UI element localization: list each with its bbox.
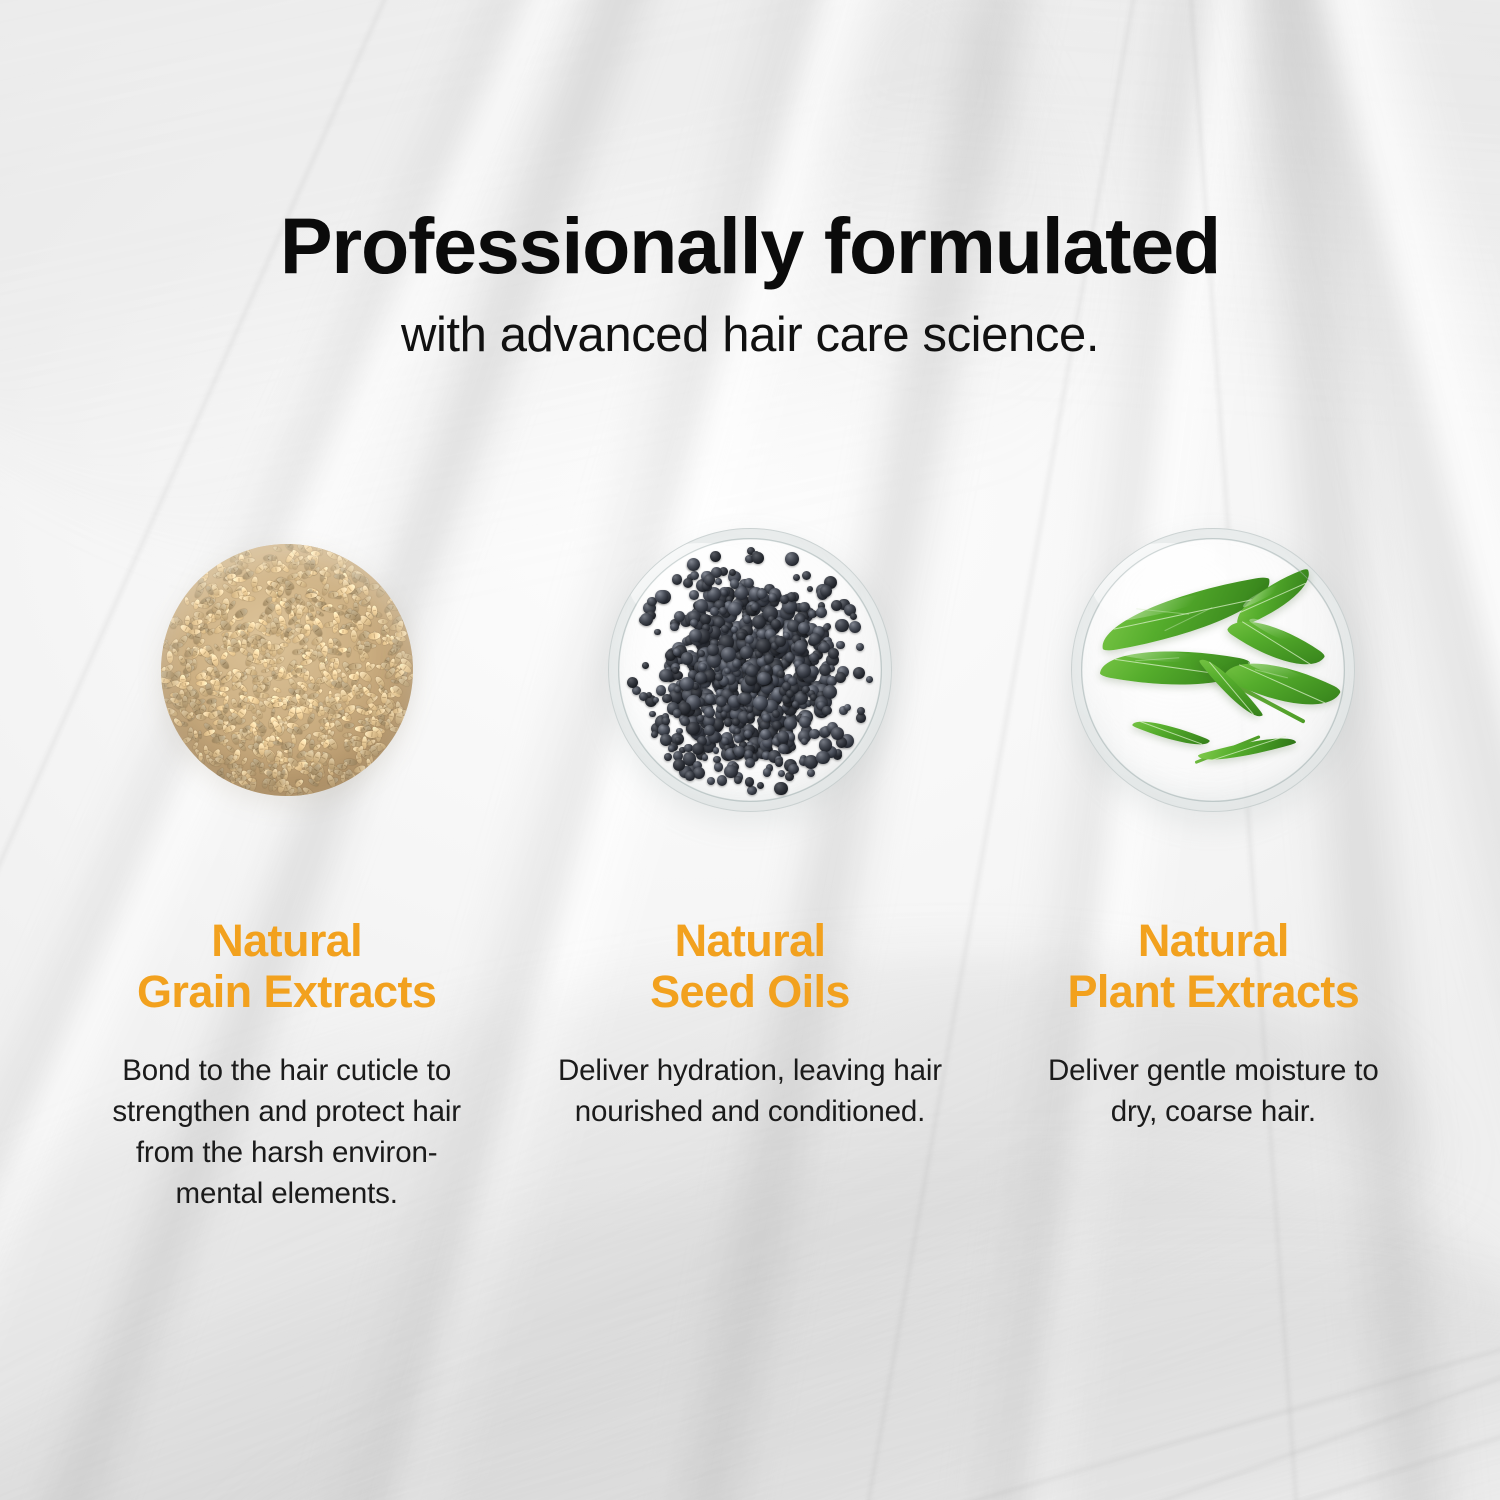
black-seed: [757, 782, 764, 789]
grain-seed: [276, 697, 288, 703]
black-seed: [746, 665, 758, 677]
grain-seed: [328, 638, 333, 648]
grain-seed: [307, 618, 320, 631]
grain-seed: [306, 554, 317, 563]
grain-seed: [342, 733, 351, 738]
grain-seed: [332, 624, 339, 634]
grain-seed: [262, 554, 274, 561]
grain-seed: [190, 630, 198, 637]
grain-seed: [270, 580, 282, 590]
grain-seed: [318, 752, 329, 765]
black-seed: [714, 762, 724, 772]
grain-seed: [355, 692, 363, 699]
black-seed: [674, 611, 685, 622]
grain-seed: [284, 749, 292, 753]
grain-seed: [341, 716, 351, 722]
grain-seed: [396, 716, 406, 721]
grain-seed: [217, 565, 229, 574]
black-seed: [721, 625, 729, 633]
grain-seed: [366, 739, 376, 747]
grain-seed: [265, 587, 279, 599]
grain-seed: [294, 622, 307, 632]
grain-seed: [287, 706, 297, 719]
grain-seed: [181, 684, 194, 696]
grain-seed: [236, 701, 245, 708]
grain-seed: [256, 736, 262, 747]
grain-seed: [227, 573, 236, 579]
black-seed: [807, 769, 816, 778]
grain-seed: [329, 590, 343, 600]
grain-seed: [247, 695, 261, 705]
grain-seed: [309, 650, 318, 662]
grain-seed: [387, 722, 396, 732]
grain-seed: [297, 597, 307, 606]
grain-seed: [233, 577, 246, 582]
grain-seed: [361, 615, 370, 624]
grain-seed: [307, 682, 320, 692]
grain-seed: [197, 754, 206, 765]
grain-seed: [330, 668, 341, 675]
grain-seed: [188, 615, 199, 625]
black-seed: [792, 701, 799, 708]
grain-seed: [382, 638, 392, 646]
black-seed: [780, 595, 789, 604]
grain-seed: [316, 701, 325, 714]
grain-seed: [362, 585, 369, 596]
grain-seed: [243, 558, 255, 564]
grain-seed: [229, 707, 239, 716]
grain-seed: [308, 613, 314, 622]
grain-seed: [220, 619, 233, 632]
grain-seed: [227, 715, 237, 726]
grain-seed: [252, 742, 263, 755]
grain-seed: [219, 738, 229, 744]
grain-seed: [262, 595, 273, 606]
grain-seed: [241, 621, 251, 628]
grain-seed: [252, 676, 263, 683]
grain-seed: [267, 764, 276, 770]
grain-seed: [181, 736, 192, 745]
grain-seed: [357, 683, 364, 693]
grain-seed: [325, 695, 334, 708]
grain-seed: [395, 634, 406, 641]
grain-seed: [268, 556, 277, 560]
black-seed: [721, 647, 736, 662]
grain-seed: [231, 589, 245, 599]
grain-seed: [332, 611, 341, 624]
grain-seed: [322, 707, 334, 715]
grain-seed: [239, 629, 248, 638]
grain-seed: [241, 784, 252, 791]
grain-seed: [322, 675, 334, 688]
grain-seed: [318, 569, 331, 578]
grain-seed: [202, 674, 212, 681]
grain-seed: [305, 766, 316, 780]
grain-seed: [190, 688, 200, 700]
header-block: Professionally formulated with advanced …: [0, 206, 1500, 360]
black-seed: [757, 672, 771, 686]
grain-seed: [333, 610, 343, 615]
grain-seed: [310, 550, 319, 556]
grain-seed: [302, 765, 312, 774]
grain-seed: [319, 659, 329, 667]
grain-seed: [270, 709, 275, 717]
grain-seed: [221, 675, 230, 682]
grain-seed: [267, 641, 272, 650]
grain-seed: [327, 737, 339, 751]
grain-seed: [316, 645, 322, 656]
grain-seed: [354, 686, 363, 698]
grain-seed: [314, 601, 326, 609]
grain-seed: [361, 685, 371, 697]
grain-seed: [275, 625, 284, 636]
grain-seed: [366, 661, 372, 670]
grain-seed: [389, 667, 397, 670]
grain-seed: [198, 646, 210, 658]
black-seed: [713, 756, 721, 764]
grain-seed: [239, 630, 249, 642]
grain-seed: [285, 544, 295, 550]
grain-seed: [372, 605, 378, 615]
grain-seed: [191, 648, 201, 659]
black-seed: [849, 621, 862, 634]
grain-seed: [310, 554, 319, 566]
grain-seed: [365, 684, 372, 695]
grain-seed: [208, 587, 216, 598]
grain-seed: [312, 731, 324, 738]
grain-seed: [200, 674, 210, 685]
grain-seed: [250, 762, 256, 771]
grain-seed: [207, 698, 217, 704]
grain-seed: [215, 752, 225, 762]
grain-seed: [196, 638, 206, 648]
grain-seed: [350, 626, 358, 632]
black-seed: [653, 697, 659, 703]
grain-seed: [283, 579, 295, 591]
feature-column-seeds: Natural Seed Oils Deliver hydration, lea…: [518, 520, 981, 1214]
black-seed: [784, 717, 796, 729]
grain-seed: [384, 690, 388, 698]
grain-seed: [334, 563, 347, 573]
grain-seed: [254, 735, 259, 745]
grain-seed: [295, 579, 307, 588]
feature-columns: Natural Grain Extracts Bond to the hair …: [55, 520, 1445, 1214]
grain-seed: [287, 677, 298, 690]
grain-seed: [357, 619, 364, 630]
grain-seed: [381, 692, 387, 703]
grain-seed: [199, 623, 208, 631]
grain-seed: [215, 571, 225, 577]
grain-seed: [188, 700, 201, 712]
grain-seed: [309, 703, 313, 712]
grain-seed: [285, 741, 296, 750]
grain-seed: [341, 661, 352, 674]
grain-seed: [326, 774, 336, 788]
grain-seed: [302, 651, 309, 663]
grain-seed: [311, 591, 318, 603]
grain-seed: [292, 559, 298, 569]
grain-seed: [295, 707, 305, 721]
black-seed: [710, 607, 719, 616]
grain-seed: [369, 705, 381, 712]
grain-seed: [328, 644, 339, 654]
grain-seed: [219, 606, 230, 618]
grain-seed: [258, 611, 265, 620]
grain-seed: [328, 702, 342, 713]
black-seed: [693, 767, 705, 779]
grain-seed: [313, 677, 322, 691]
grain-seed: [229, 717, 234, 726]
grain-seed: [237, 671, 247, 679]
grain-seed: [288, 609, 294, 620]
grain-seed: [210, 705, 216, 717]
grain-seed: [256, 709, 264, 719]
grain-seed: [286, 761, 299, 769]
grain-seed: [219, 691, 228, 698]
page-headline: Professionally formulated: [0, 206, 1500, 285]
grain-seed: [295, 689, 305, 695]
grain-seed: [352, 746, 362, 752]
grain-seed: [307, 697, 319, 707]
grain-seed: [205, 754, 211, 764]
grain-seed: [345, 663, 355, 671]
grain-seed: [317, 707, 326, 717]
grain-seed: [385, 634, 393, 645]
black-seed: [772, 721, 781, 730]
grain-seed: [208, 628, 216, 636]
grain-seed: [248, 777, 256, 782]
black-seed: [697, 715, 704, 722]
black-seed: [654, 629, 660, 635]
grain-seed: [245, 568, 254, 577]
grain-seed: [184, 596, 189, 604]
grain-seed: [295, 786, 303, 796]
grain-seed: [388, 604, 399, 611]
grain-seed: [204, 570, 208, 578]
grain-seed: [383, 656, 390, 665]
grain-seed: [307, 652, 318, 657]
grain-seed: [194, 698, 206, 707]
grain-seed: [191, 645, 204, 657]
grain-seed: [287, 614, 299, 626]
grain-seed: [270, 730, 282, 739]
grain-seed: [263, 659, 274, 666]
grain-seed: [219, 686, 228, 691]
grain-seed: [370, 744, 383, 752]
grain-seed: [201, 599, 214, 608]
grain-seed: [241, 569, 255, 581]
grain-seed: [296, 749, 307, 759]
grain-seed: [220, 722, 232, 730]
grain-seed: [208, 612, 218, 619]
grain-seed: [169, 616, 183, 625]
grain-seed: [224, 566, 233, 579]
grain-seed: [263, 769, 275, 778]
grain-seed: [259, 762, 265, 772]
grain-seed: [224, 670, 232, 680]
grain-seed: [271, 671, 278, 680]
grain-seed: [352, 736, 362, 741]
grain-seed: [179, 624, 193, 635]
grain-seed: [396, 675, 408, 682]
black-seed: [822, 706, 832, 716]
grain-seed: [199, 622, 208, 629]
grain-seed: [349, 663, 362, 670]
grain-seed: [220, 609, 229, 621]
grain-seed: [305, 649, 314, 654]
grain-seed: [171, 692, 183, 702]
grain-seed: [345, 578, 352, 588]
grain-seed: [269, 646, 272, 654]
black-seed: [683, 578, 693, 588]
black-seed: [734, 776, 742, 784]
grain-seed: [165, 708, 175, 715]
grain-seed: [337, 574, 345, 585]
grain-seed: [238, 646, 249, 656]
grain-seed: [374, 675, 386, 688]
grain-seed: [259, 743, 265, 755]
grain-seed: [284, 627, 293, 638]
grain-seed: [298, 723, 310, 733]
black-seed: [715, 673, 723, 681]
grain-seed: [195, 581, 208, 593]
grain-seed: [359, 649, 370, 660]
black-seed: [649, 711, 655, 717]
grain-seed: [306, 564, 313, 574]
grain-seed: [275, 625, 282, 636]
grain-seed: [316, 595, 326, 602]
grain-seed: [256, 723, 260, 732]
grain-seed: [301, 654, 310, 661]
grain-seed: [365, 717, 375, 723]
grain-seed: [323, 738, 332, 749]
grain-seed: [277, 623, 287, 629]
grain-seed: [391, 679, 399, 684]
grain-seed: [299, 603, 310, 613]
grain-seed: [315, 638, 325, 650]
grain-seed: [285, 659, 296, 673]
grain-seed: [329, 678, 337, 689]
grain-seed: [339, 555, 349, 566]
grain-seed: [229, 568, 242, 576]
grain-seed: [234, 558, 244, 565]
grain-seed: [180, 709, 192, 721]
grain-seed: [228, 646, 240, 652]
grain-seed: [225, 576, 234, 583]
grain-seed: [243, 596, 255, 602]
grain-seed: [343, 741, 351, 752]
grain-seed: [378, 685, 386, 694]
grain-seed: [260, 768, 270, 775]
grain-seed: [315, 688, 324, 696]
grain-seed: [372, 631, 377, 640]
grain-seed: [273, 740, 283, 744]
grain-seed: [231, 667, 244, 678]
black-seed: [734, 735, 742, 743]
grain-seed: [306, 713, 315, 725]
black-seed: [743, 615, 752, 624]
grain-seed: [385, 667, 395, 674]
grain-seed: [233, 710, 242, 720]
black-seed: [700, 614, 711, 625]
grain-seed: [247, 769, 257, 777]
grain-seed: [349, 674, 360, 687]
grain-seed: [185, 647, 191, 655]
grain-seed: [318, 602, 326, 606]
grain-seed: [267, 695, 277, 705]
grain-seed: [397, 677, 410, 687]
grain-seed: [211, 584, 221, 596]
grain-seed: [192, 659, 197, 670]
grain-seed: [283, 721, 288, 730]
grain-seed: [214, 622, 227, 634]
grain-seed: [202, 597, 216, 609]
grain-seed: [320, 740, 329, 746]
grain-seed: [398, 650, 407, 660]
grain-seed: [321, 675, 328, 684]
grain-seed: [261, 668, 270, 673]
grain-seed: [227, 600, 236, 610]
grain-media: [137, 520, 437, 820]
grain-seed: [389, 636, 395, 646]
grain-seed: [392, 644, 401, 654]
grain-seed: [367, 644, 376, 648]
grain-seed: [395, 620, 405, 633]
grain-seed: [319, 571, 325, 582]
grain-seed: [365, 758, 372, 768]
grain-seed: [313, 590, 320, 600]
grain-seed: [236, 674, 249, 684]
grain-seed: [398, 662, 412, 674]
grain-seed: [351, 593, 362, 605]
grain-seed: [194, 585, 206, 599]
black-seed: [670, 623, 678, 631]
grain-seed: [238, 727, 250, 740]
grain-seed: [354, 764, 367, 774]
black-seed: [809, 729, 820, 740]
black-seed: [747, 713, 754, 720]
grain-seed: [271, 698, 279, 704]
grain-seed: [255, 679, 263, 690]
grain-seed: [246, 652, 254, 662]
grain-seed: [322, 572, 328, 584]
grain-seed: [231, 564, 244, 572]
grain-seed: [198, 575, 208, 583]
grain-seed: [306, 699, 316, 708]
grain-seed: [245, 655, 254, 667]
grain-seed: [319, 734, 330, 746]
grain-seed: [367, 748, 375, 758]
grain-seed: [319, 663, 329, 677]
black-seed: [816, 607, 827, 618]
grain-seed: [216, 767, 224, 776]
grain-seed: [309, 773, 321, 786]
grain-seed: [308, 675, 315, 684]
grain-seed: [348, 673, 359, 680]
grain-seed: [205, 652, 215, 662]
grain-seed: [205, 666, 220, 679]
grain-seed: [379, 719, 389, 726]
grain-seed: [261, 740, 269, 753]
grain-seed: [281, 715, 291, 722]
grain-seed: [239, 691, 248, 696]
grain-seed: [191, 733, 199, 743]
grain-seed: [233, 584, 244, 597]
grain-seed: [238, 683, 248, 693]
grain-seed: [251, 674, 265, 686]
black-seed: [831, 600, 843, 612]
grain-seed: [209, 679, 220, 687]
